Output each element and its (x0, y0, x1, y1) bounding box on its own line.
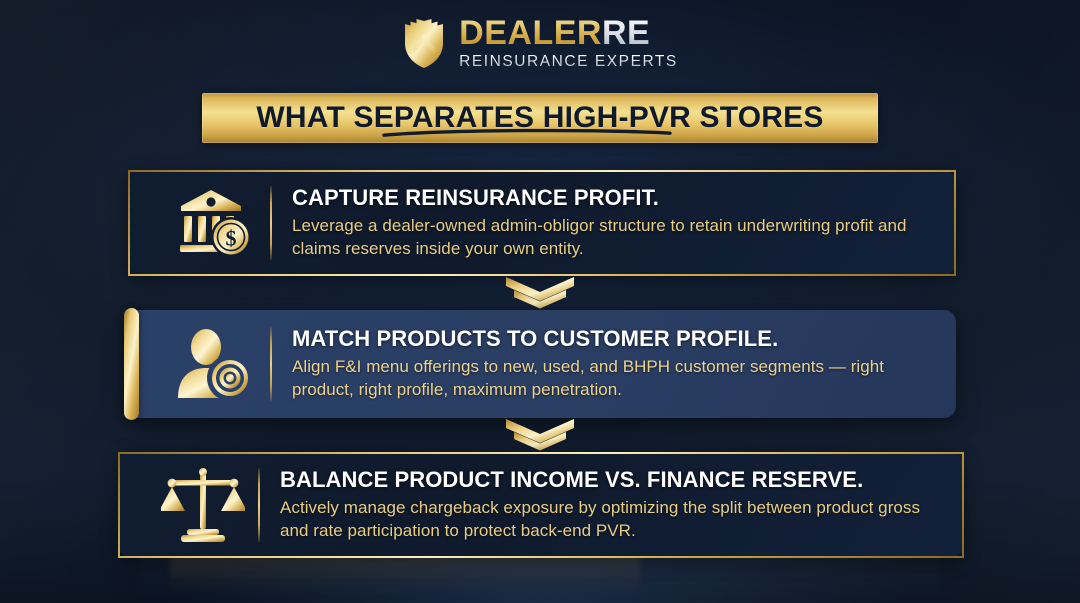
brand-name: DEALERRE (459, 16, 650, 50)
card-heading: MATCH PRODUCTS TO CUSTOMER PROFILE. (292, 327, 940, 352)
card-heading: BALANCE PRODUCT INCOME VS. FINANCE RESER… (280, 468, 946, 493)
card-body: CAPTURE REINSURANCE PROFIT. Leverage a d… (272, 186, 954, 261)
user-target-icon (160, 328, 270, 400)
brand-tagline: REINSURANCE EXPERTS (459, 54, 678, 70)
card-description: Align F&I menu offerings to new, used, a… (292, 356, 940, 401)
infographic-stage: DEALERRE REINSURANCE EXPERTS WHAT SEPARA… (0, 0, 1080, 603)
card-balance-product-income[interactable]: BALANCE PRODUCT INCOME VS. FINANCE RESER… (118, 452, 964, 558)
card-accent-bar (124, 308, 139, 420)
balance-scales-icon (148, 467, 258, 543)
shield-icon (402, 17, 446, 69)
card-capture-reinsurance-profit[interactable]: $ CAPTURE REINSURANCE PROFIT. Leverage a… (128, 170, 956, 276)
card-body: MATCH PRODUCTS TO CUSTOMER PROFILE. Alig… (272, 327, 956, 402)
card-description: Actively manage chargeback exposure by o… (280, 497, 946, 542)
brand-name-secondary: RE (602, 14, 650, 52)
card-description: Leverage a dealer-owned admin-obligor st… (292, 215, 938, 260)
brand-logo: DEALERRE REINSURANCE EXPERTS (0, 16, 1080, 70)
brand-name-primary: DEALER (459, 14, 602, 52)
title-underline-swoosh (382, 128, 672, 137)
card-match-products-to-customer-profile[interactable]: MATCH PRODUCTS TO CUSTOMER PROFILE. Alig… (124, 310, 956, 418)
card-body: BALANCE PRODUCT INCOME VS. FINANCE RESER… (260, 468, 962, 543)
brand-wordmark: DEALERRE REINSURANCE EXPERTS (459, 16, 678, 70)
chevron-double-down-icon-2 (504, 419, 576, 453)
svg-text:$: $ (226, 226, 237, 251)
card-heading: CAPTURE REINSURANCE PROFIT. (292, 186, 938, 211)
bank-dollar-icon: $ (160, 189, 270, 257)
chevron-double-down-icon-1 (504, 277, 576, 311)
